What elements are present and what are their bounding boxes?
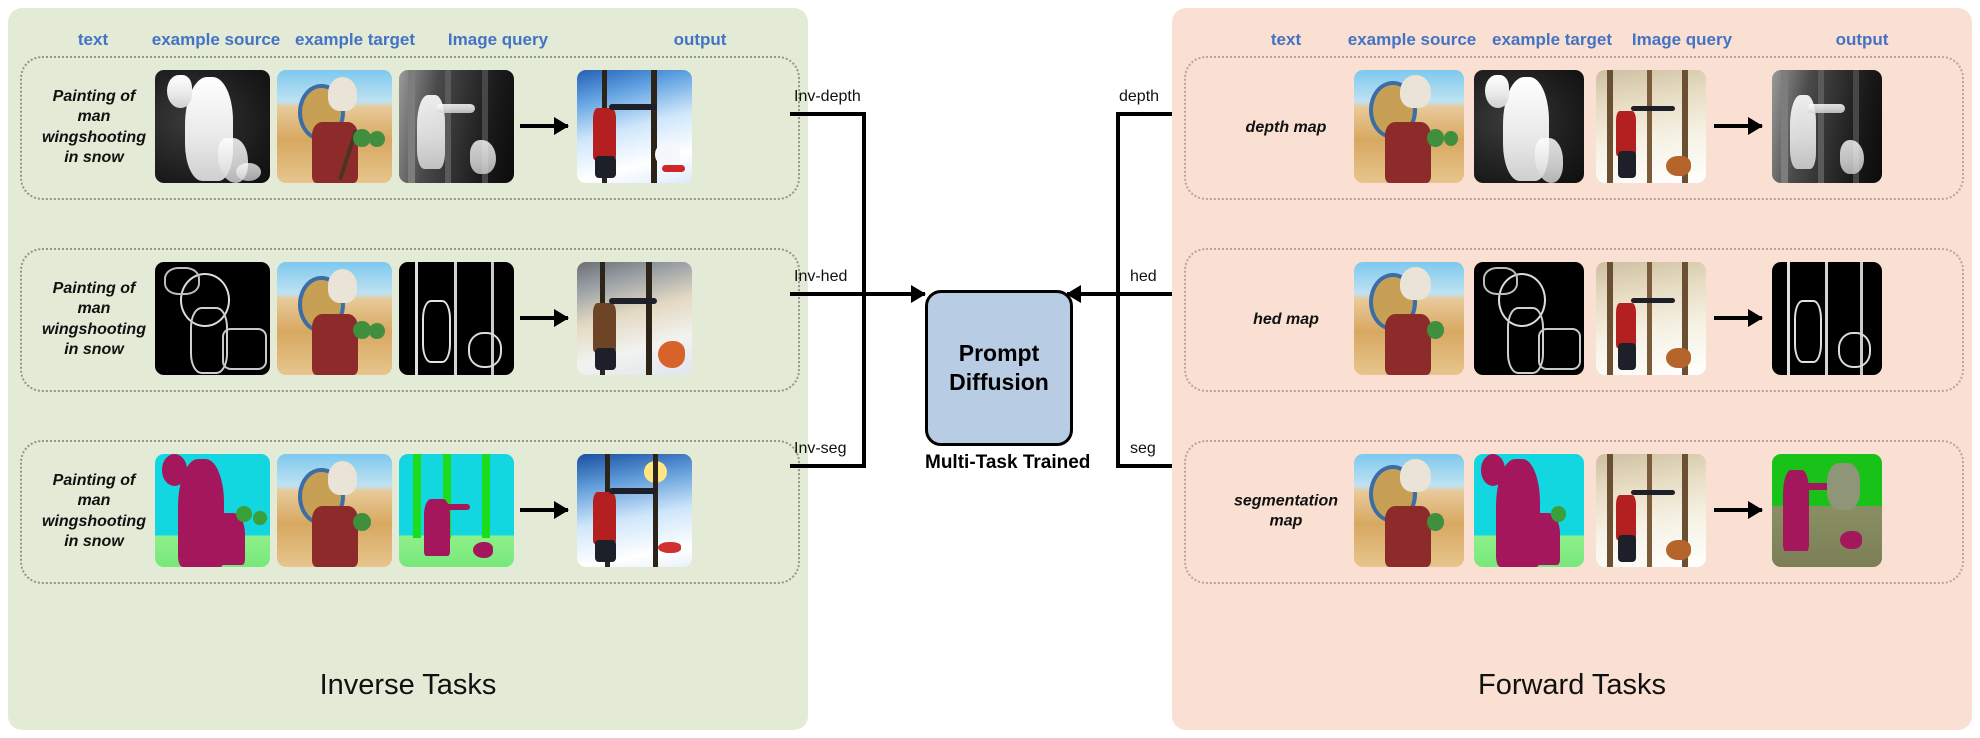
- column-header-output: output: [674, 30, 727, 50]
- thumb-example-source-inv-depth: [155, 70, 270, 183]
- thumb-output-seg: [1772, 454, 1882, 567]
- column-header-output-fwd: output: [1836, 30, 1889, 50]
- thumb-image-query-seg: [1596, 454, 1706, 567]
- panel-footer-inverse: Inverse Tasks: [8, 669, 808, 702]
- edge-label-hed: hed: [1130, 268, 1157, 286]
- thumb-example-source-inv-hed: [155, 262, 270, 375]
- panel-forward-tasks: text example source example target Image…: [1172, 8, 1972, 730]
- column-header-example-target: example target: [295, 30, 415, 50]
- column-header-text-fwd: text: [1271, 30, 1301, 50]
- wire-inv-seg-h: [790, 464, 866, 468]
- row-label-depth-map: depth map: [1206, 118, 1366, 138]
- thumb-image-query-inv-hed: [399, 262, 514, 375]
- thumb-output-depth: [1772, 70, 1882, 183]
- thumb-output-inv-hed: [577, 262, 692, 375]
- arrow-to-output-fwd-row3: [1714, 508, 1762, 512]
- multi-task-trained-caption: Multi-Task Trained: [925, 452, 1067, 474]
- thumb-output-inv-depth: [577, 70, 692, 183]
- task-row-inv-hed: Painting of man wingshooting in snow: [20, 248, 800, 392]
- thumb-image-query-depth: [1596, 70, 1706, 183]
- column-header-example-source-fwd: example source: [1348, 30, 1477, 50]
- thumb-example-target-depth: [1474, 70, 1584, 183]
- arrow-to-output-fwd-row1: [1714, 124, 1762, 128]
- thumb-example-target-inv-hed: [277, 262, 392, 375]
- prompt-diffusion-node[interactable]: Prompt Diffusion: [925, 290, 1073, 446]
- edge-label-depth: depth: [1119, 88, 1159, 106]
- row-label-segmentation-map: segmentation map: [1206, 492, 1366, 533]
- edge-label-inv-depth: Inv-depth: [794, 88, 861, 106]
- arrow-to-output-row2: [520, 316, 568, 320]
- task-row-depth: depth map: [1184, 56, 1964, 200]
- thumb-example-source-hed: [1354, 262, 1464, 375]
- wire-inv-to-prompt-arrow: [790, 292, 925, 296]
- task-row-inv-seg: Painting of man wingshooting in snow: [20, 440, 800, 584]
- edge-label-seg: seg: [1130, 440, 1156, 458]
- thumb-output-inv-seg: [577, 454, 692, 567]
- thumb-example-source-depth: [1354, 70, 1464, 183]
- column-header-text: text: [78, 30, 108, 50]
- arrow-to-output-fwd-row2: [1714, 316, 1762, 320]
- column-header-image-query: Image query: [448, 30, 548, 50]
- column-header-example-source: example source: [152, 30, 281, 50]
- row-label-hed-map: hed map: [1206, 310, 1366, 330]
- task-row-inv-depth: Painting of man wingshooting in snow: [20, 56, 800, 200]
- wire-seg-v: [1116, 294, 1120, 468]
- task-row-seg: segmentation map: [1184, 440, 1964, 584]
- thumb-image-query-inv-seg: [399, 454, 514, 567]
- column-headers-inverse: text example source example target Image…: [8, 30, 808, 54]
- thumb-example-target-inv-seg: [277, 454, 392, 567]
- arrow-to-output-row3: [520, 508, 568, 512]
- row-label-inv-seg: Painting of man wingshooting in snow: [19, 471, 169, 553]
- wire-inv-seg-v: [862, 294, 866, 468]
- prompt-diffusion-label: Prompt Diffusion: [928, 339, 1070, 397]
- panel-inverse-tasks: text example source example target Image…: [8, 8, 808, 730]
- task-row-hed: hed map: [1184, 248, 1964, 392]
- thumb-example-source-seg: [1354, 454, 1464, 567]
- wire-inv-depth-h: [790, 112, 866, 116]
- edge-label-inv-hed: Inv-hed: [794, 268, 847, 286]
- row-label-inv-depth: Painting of man wingshooting in snow: [19, 87, 169, 169]
- row-label-inv-hed: Painting of man wingshooting in snow: [19, 279, 169, 361]
- column-header-example-target-fwd: example target: [1492, 30, 1612, 50]
- edge-label-inv-seg: Inv-seg: [794, 440, 846, 458]
- thumb-example-target-hed: [1474, 262, 1584, 375]
- thumb-image-query-hed: [1596, 262, 1706, 375]
- panel-footer-forward: Forward Tasks: [1172, 669, 1972, 702]
- thumb-image-query-inv-depth: [399, 70, 514, 183]
- thumb-example-target-seg: [1474, 454, 1584, 567]
- thumb-example-source-inv-seg: [155, 454, 270, 567]
- thumb-output-hed: [1772, 262, 1882, 375]
- thumb-example-target-inv-depth: [277, 70, 392, 183]
- wire-forward-to-prompt-arrow: [1067, 292, 1182, 296]
- column-headers-forward: text example source example target Image…: [1172, 30, 1972, 54]
- column-header-image-query-fwd: Image query: [1632, 30, 1732, 50]
- arrow-to-output-row1: [520, 124, 568, 128]
